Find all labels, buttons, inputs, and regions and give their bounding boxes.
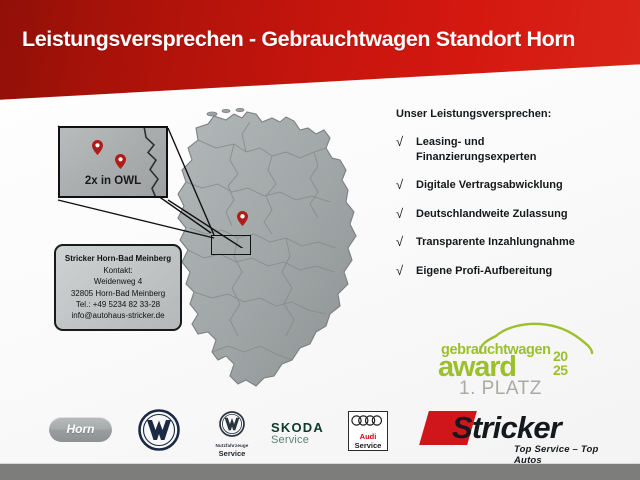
address-callout: Stricker Horn-Bad Meinberg Kontakt: Weid… — [54, 244, 182, 331]
map-magnify-region — [211, 235, 251, 255]
skoda-wordmark: SKODA — [271, 420, 333, 435]
award-year: 20 25 — [553, 350, 568, 377]
promise-label: Leasing- und Finanzierungsexperten — [416, 135, 536, 164]
check-icon: √ — [396, 264, 416, 278]
promise-item: √ Eigene Profi-Aufbereitung — [396, 264, 628, 279]
map-pin-icon — [92, 140, 103, 155]
promise-item: √ Digitale Vertragsabwicklung — [396, 178, 628, 193]
address-phone[interactable]: Tel.: +49 5234 82 33-28 — [62, 299, 174, 310]
bottom-bar — [0, 464, 640, 480]
brand-logo-strip: Horn Nutzfahrzeuge Service SKODA Service — [0, 401, 640, 463]
promise-label: Transparente Inzahlungnahme — [416, 235, 575, 250]
promise-item: √ Deutschlandweite Zulassung — [396, 207, 628, 222]
promises-heading: Unser Leistungsversprechen: — [396, 108, 628, 120]
horn-badge-label: Horn — [49, 422, 112, 436]
check-icon: √ — [396, 178, 416, 192]
promise-label: Eigene Profi-Aufbereitung — [416, 264, 552, 279]
address-email[interactable]: info@autohaus-stricker.de — [62, 310, 174, 321]
skoda-service-logo: SKODA Service — [271, 420, 333, 446]
stricker-wordmark: Stricker — [452, 410, 561, 446]
slide-root: Leistungsversprechen - Gebrauchtwagen St… — [0, 0, 640, 480]
promise-item: √ Transparente Inzahlungnahme — [396, 235, 628, 250]
vw-nfz-top-label: Nutzfahrzeuge — [206, 443, 258, 448]
address-street: Weidenweg 4 — [62, 276, 174, 287]
owl-inset-box: 2x in OWL — [58, 126, 168, 198]
stricker-logo: Stricker Top Service – Top Autos — [424, 406, 624, 458]
address-city: 32805 Horn-Bad Meinberg — [62, 288, 174, 299]
promise-label: Digitale Vertragsabwicklung — [416, 178, 563, 193]
check-icon: √ — [396, 135, 416, 149]
owl-inset-label: 2x in OWL — [60, 175, 166, 187]
map-pin-icon — [237, 211, 248, 226]
audi-service-label: Service — [349, 441, 387, 450]
award-platz-text: 1. PLATZ — [459, 378, 542, 400]
promises-section: Unser Leistungsversprechen: √ Leasing- u… — [396, 108, 628, 292]
promise-label: Deutschlandweite Zulassung — [416, 207, 568, 222]
audi-rings-icon — [351, 415, 385, 426]
vw-logo-icon — [219, 411, 245, 437]
audi-service-logo: Audi Service — [348, 411, 388, 451]
vw-logo-icon — [138, 409, 180, 451]
page-title: Leistungsversprechen - Gebrauchtwagen St… — [22, 27, 575, 52]
skoda-service-label: Service — [271, 434, 333, 446]
horn-badge[interactable]: Horn — [49, 417, 112, 442]
check-icon: √ — [396, 207, 416, 221]
header-banner — [0, 0, 640, 104]
address-name: Stricker Horn-Bad Meinberg — [62, 253, 174, 264]
promise-item: √ Leasing- und Finanzierungsexperten — [396, 135, 628, 164]
award-year-bottom: 25 — [553, 364, 568, 378]
award-badge: gebrauchtwagen award 20 25 1. PLATZ — [434, 322, 594, 398]
vw-nfz-service-label: Service — [206, 449, 258, 458]
audi-wordmark: Audi — [349, 432, 387, 441]
address-kontakt-label: Kontakt: — [62, 265, 174, 276]
germany-map — [168, 108, 368, 400]
vw-nutzfahrzeuge-service-logo: Nutzfahrzeuge Service — [206, 411, 258, 455]
map-pin-icon — [115, 154, 126, 169]
check-icon: √ — [396, 235, 416, 249]
